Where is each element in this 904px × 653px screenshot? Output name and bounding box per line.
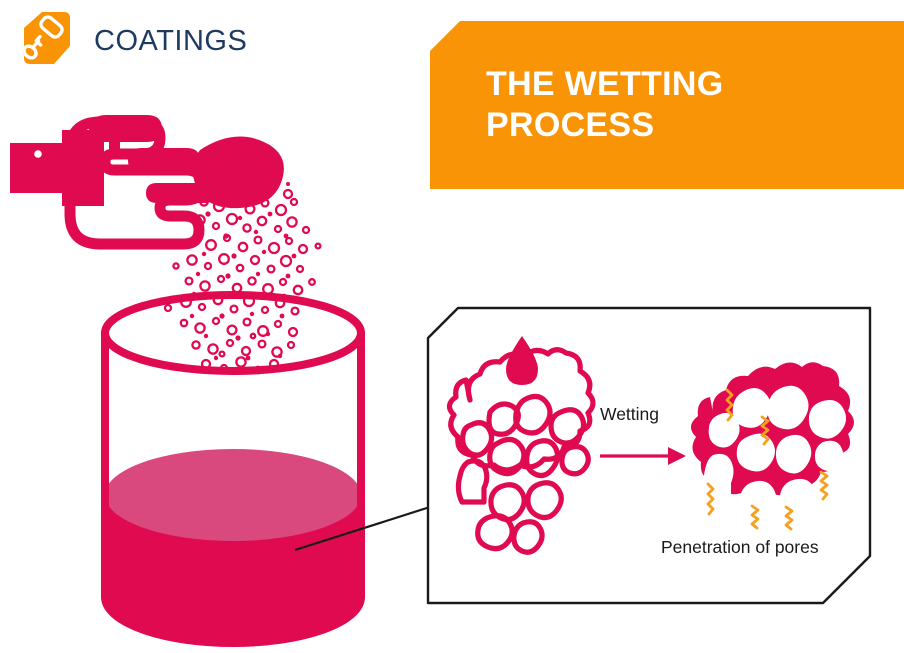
penetration-of-pores-label: Penetration of pores: [661, 537, 819, 558]
wetting-label: Wetting: [600, 404, 659, 425]
page-title-line2: PROCESS: [486, 105, 724, 146]
powder-particles: [165, 146, 320, 374]
paint-roller-icon: [14, 10, 76, 72]
callout-box-border: [428, 308, 870, 603]
page-title-line1: THE WETTING: [486, 64, 724, 105]
infographic-canvas: COATINGS THE WETTING PROCESS: [0, 0, 904, 653]
hand-pouring-icon: [10, 115, 284, 244]
beaker-icon: [105, 295, 361, 643]
brand-name: COATINGS: [94, 27, 247, 56]
page-title: THE WETTING PROCESS: [430, 64, 748, 147]
porous-particle-filled-icon: [691, 362, 854, 553]
liquid-droplet-icon: [506, 336, 538, 385]
title-banner: THE WETTING PROCESS: [430, 21, 904, 189]
squiggle-group: [708, 390, 827, 529]
leader-line: [295, 507, 430, 550]
porous-particle-outline-icon: [449, 350, 593, 552]
brand-header: COATINGS: [14, 8, 274, 74]
right-arrow-icon: [600, 447, 686, 465]
